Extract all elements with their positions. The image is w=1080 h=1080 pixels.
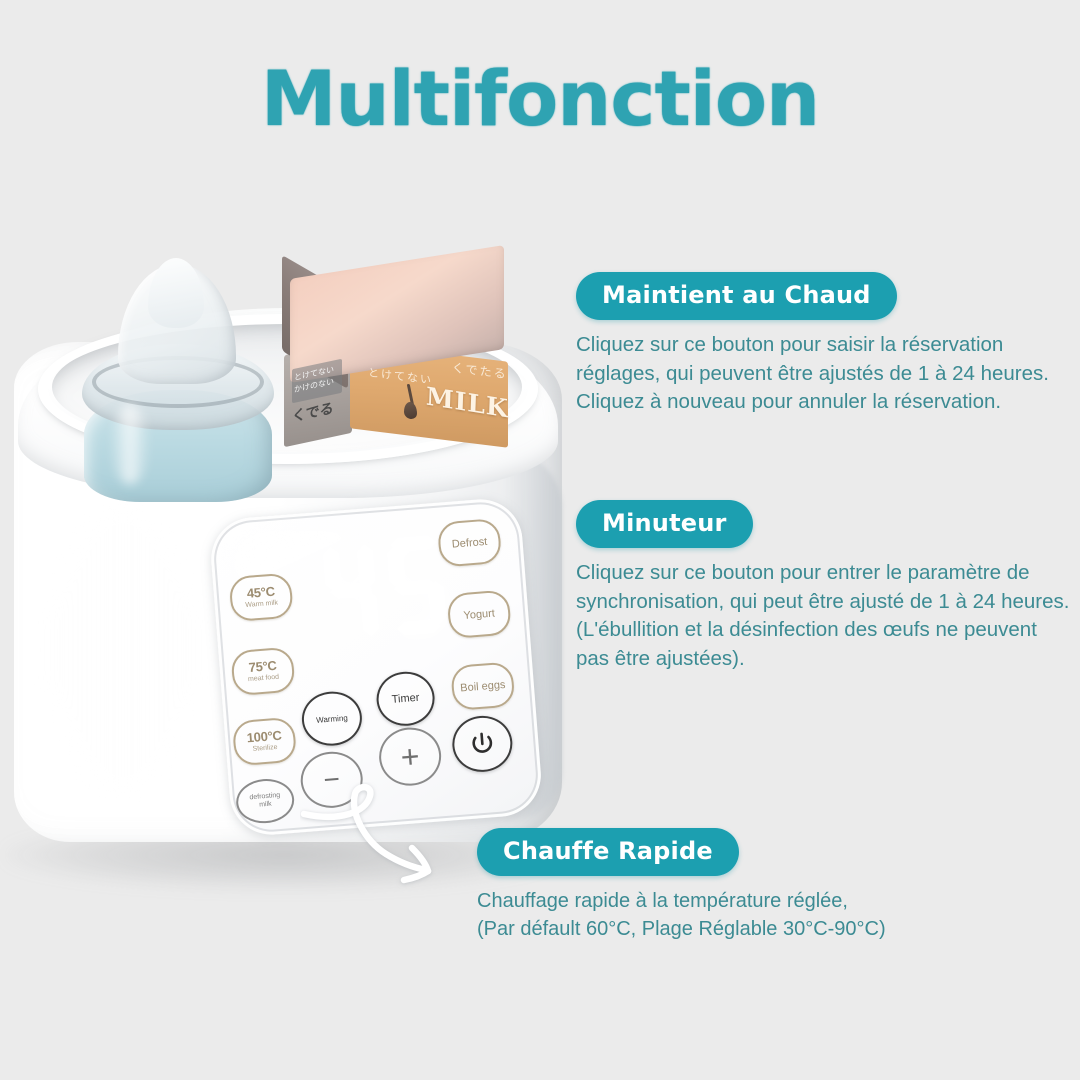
page-title: Multifonction: [0, 54, 1080, 143]
callout-timer: Minuteur Cliquez sur ce bouton pour entr…: [576, 500, 1069, 674]
power-icon: [468, 730, 496, 758]
callout-fast-heat: Chauffe Rapide Chauffage rapide à la tem…: [477, 828, 886, 943]
product-bottle-warmer: とけてない かけのない くでる とけてない くでたる MILK: [8, 300, 568, 880]
warmer-highlight: [48, 500, 198, 800]
preset-75c-sublabel: meat food: [248, 674, 280, 684]
preset-45c-button[interactable]: 45°C Warm milk: [229, 572, 294, 622]
preset-75c-button[interactable]: 75°C meat food: [230, 647, 295, 697]
led-display: [314, 528, 453, 656]
callout-keep-warm: Maintient au Chaud Cliquez sur ce bouton…: [576, 272, 1049, 417]
callout-fast-heat-badge: Chauffe Rapide: [477, 828, 739, 876]
baby-bottle: [70, 264, 285, 504]
preset-100c-label: 100°C: [246, 729, 282, 745]
boil-eggs-label: Boil eggs: [460, 678, 506, 694]
yogurt-button[interactable]: Yogurt: [447, 589, 512, 639]
callout-keep-warm-badge: Maintient au Chaud: [576, 272, 897, 320]
bottle-highlight: [110, 404, 150, 484]
defrost-label: Defrost: [451, 535, 487, 550]
curly-arrow: [300, 782, 480, 892]
yogurt-label: Yogurt: [463, 607, 495, 621]
preset-100c-sublabel: Sterilize: [252, 744, 277, 754]
defrosting-milk-sublabel: milk: [259, 801, 272, 810]
milk-carton: とけてない かけのない くでる とけてない くでたる MILK: [276, 256, 516, 476]
callout-fast-heat-text: Chauffage rapide à la température réglée…: [477, 887, 886, 943]
callout-keep-warm-text: Cliquez sur ce bouton pour saisir la rés…: [576, 331, 1049, 417]
timer-label: Timer: [391, 692, 420, 706]
preset-100c-button[interactable]: 100°C Sterilize: [232, 717, 297, 767]
callout-timer-text: Cliquez sur ce bouton pour entrer le par…: [576, 559, 1069, 674]
plus-label: +: [399, 737, 421, 775]
preset-75c-label: 75°C: [248, 659, 277, 674]
infographic-canvas: Multifonction とけてない かけのない くでる: [0, 0, 1080, 1080]
defrost-button[interactable]: Defrost: [437, 518, 502, 568]
boil-eggs-button[interactable]: Boil eggs: [450, 661, 515, 711]
warming-label: Warming: [316, 713, 348, 724]
preset-45c-label: 45°C: [246, 585, 275, 600]
callout-timer-badge: Minuteur: [576, 500, 753, 548]
preset-45c-sublabel: Warm milk: [245, 599, 278, 610]
